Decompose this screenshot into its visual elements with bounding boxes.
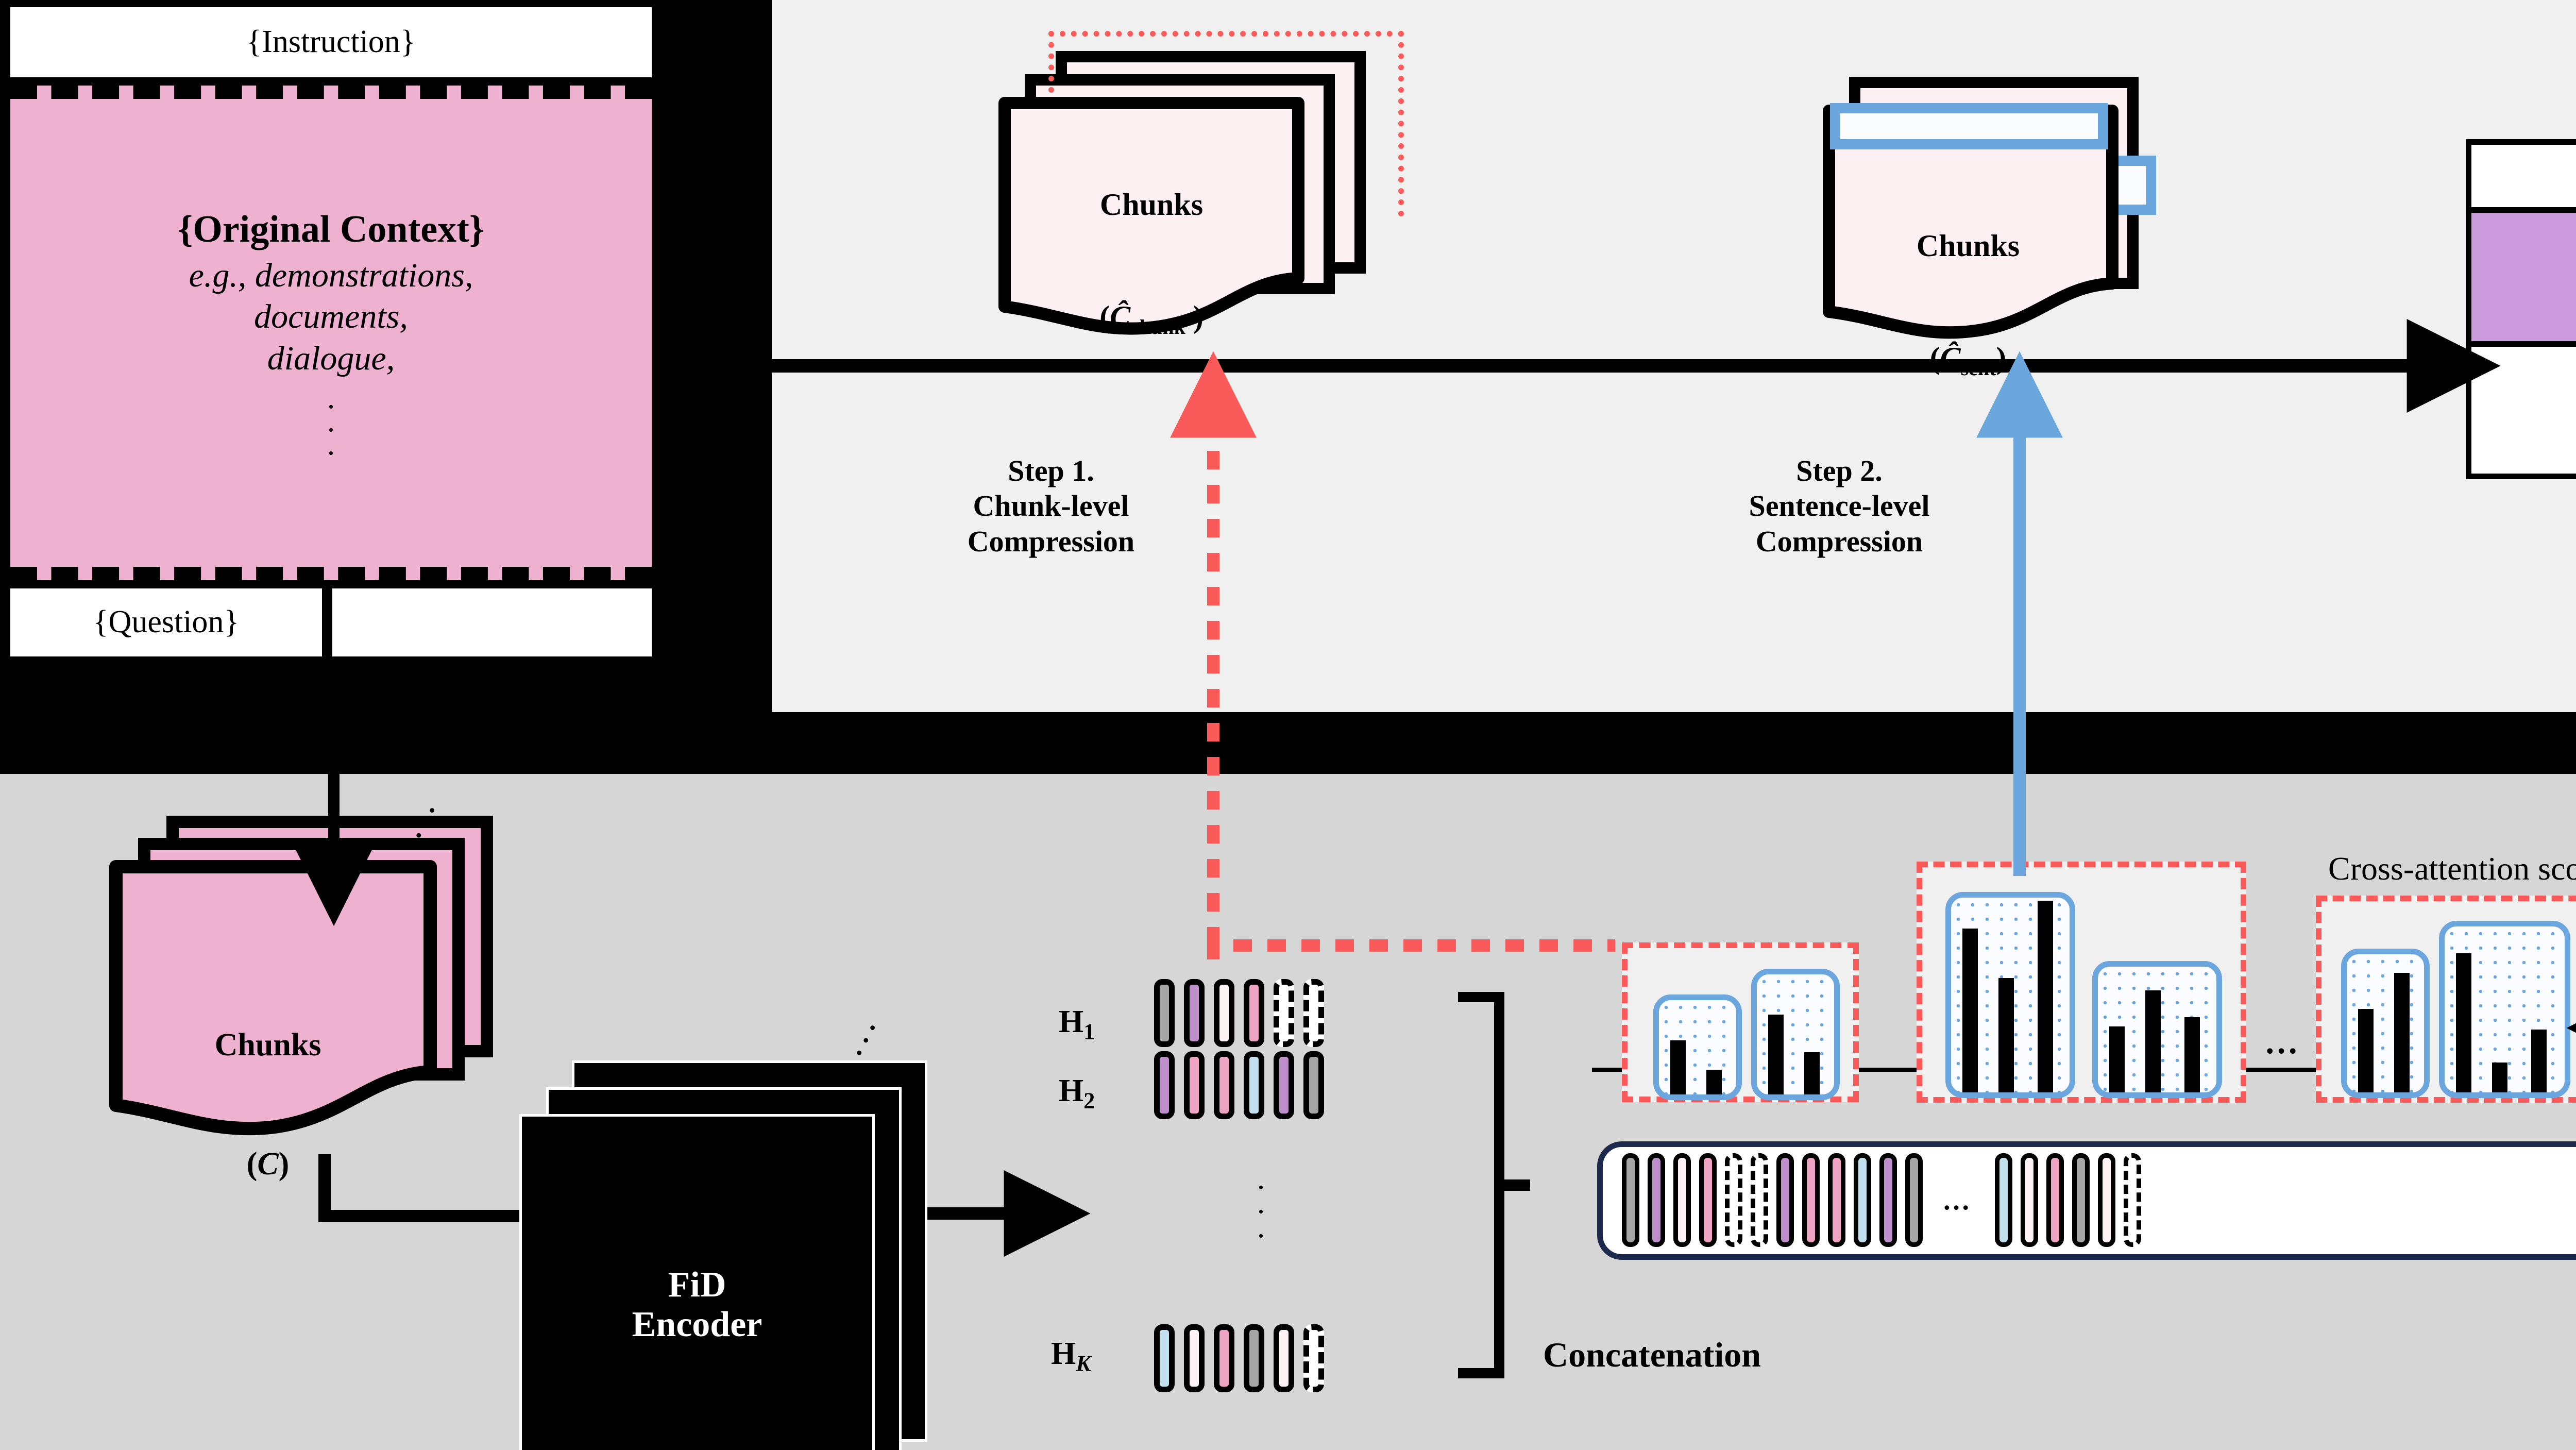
h2-label: H2 (1059, 1073, 1095, 1114)
token-dashed (1303, 979, 1324, 1047)
step-2-title: Sentence-level (1685, 488, 1994, 524)
original-prompt-block: {Instruction} {Original Context} e.g., d… (0, 0, 662, 664)
compressed-prompt-block: {Instruction} {CompressedContext} {Quest… (2466, 139, 2576, 479)
fid-encoder[interactable]: FiD Encoder (519, 1114, 875, 1450)
step-2-subtitle: Compression (1685, 524, 1994, 559)
token-dashed (2124, 1153, 2141, 1247)
original-context-example-line: documents, (189, 296, 473, 338)
step-2-label: Step 2. Sentence-level Compression (1685, 453, 1994, 559)
step-1-title: Chunk-level (907, 488, 1195, 524)
original-question-text: {Question} (93, 605, 239, 639)
token-pink (1244, 979, 1264, 1047)
token-blue (1995, 1153, 2012, 1247)
attention-ellipsis: … (2264, 1023, 2306, 1062)
attention-sentence-k-2[interactable] (2439, 921, 2570, 1098)
chunk-level-symbol: (Ĉchunk ) (994, 299, 1309, 339)
token-gray (1244, 1324, 1264, 1392)
attention-sentence-2-1[interactable] (1945, 892, 2075, 1098)
chunk-level-dashed-left (1048, 31, 1056, 93)
compressed-question-row: {Question} (2471, 347, 2576, 411)
attention-sentence-1-2[interactable] (1751, 969, 1840, 1100)
original-context-examples: e.g., demonstrations,documents,dialogue, (189, 255, 473, 380)
original-question-filler (332, 588, 652, 656)
token-purple (1274, 1051, 1294, 1119)
step-1-subtitle: Compression (907, 524, 1195, 559)
attention-bar (2038, 901, 2053, 1092)
token-white_pink (2098, 1153, 2115, 1247)
chunk-level-dashed-highlight (1048, 31, 1404, 216)
original-context-row: {Original Context} e.g., demonstrations,… (10, 86, 652, 580)
token-white_pink (1214, 979, 1234, 1047)
attention-bar (2145, 990, 2161, 1092)
concatenation-bracket (1453, 992, 1535, 1389)
token-white_pink (1673, 1153, 1691, 1247)
attention-chunk-group-2 (1917, 862, 2246, 1103)
original-instruction-text: {Instruction} (246, 25, 415, 59)
token-pink (2046, 1153, 2064, 1247)
step-1-number: Step 1. (907, 453, 1195, 488)
sentence-level-paper-label: Chunks (Ĉsent) (1819, 155, 2117, 453)
token-pink (1699, 1153, 1717, 1247)
token-gray (2072, 1153, 2090, 1247)
token-purple (1648, 1153, 1665, 1247)
attention-bar (1998, 978, 2014, 1092)
original-instruction-row: {Instruction} (10, 7, 652, 77)
step-2-number: Step 2. (1685, 453, 1994, 488)
sentence-level-symbol: (Ĉsent) (1819, 340, 2117, 380)
hk-token-row (1154, 1324, 1324, 1392)
token-white_pink (1274, 1324, 1294, 1392)
concatenation-token-row: … (1622, 1153, 2141, 1247)
attention-bar (2492, 1063, 2507, 1092)
token-blue (1244, 1051, 1264, 1119)
step-1-label: Step 1. Chunk-level Compression (907, 453, 1195, 559)
attention-sentence-k-1[interactable] (2341, 949, 2430, 1098)
attention-bar (1670, 1040, 1686, 1094)
token-purple (1184, 979, 1205, 1047)
token-purple (1879, 1153, 1897, 1247)
attention-bar (1768, 1015, 1784, 1094)
attention-sentence-2-2[interactable] (2092, 961, 2222, 1098)
token-gray (1154, 979, 1175, 1047)
token-gray (1622, 1153, 1639, 1247)
token-pink (1828, 1153, 1845, 1247)
original-context-example-line: e.g., demonstrations, (189, 255, 473, 297)
h2-token-row (1154, 1051, 1324, 1119)
token-dashed (1751, 1153, 1768, 1247)
attention-bar (2109, 1026, 2125, 1092)
token-dashed (1725, 1153, 1742, 1247)
diagram-canvas: {Instruction} {Original Context} e.g., d… (0, 0, 2576, 1450)
source-chunks-symbol: (C) (103, 1145, 433, 1184)
attention-bar (2358, 1009, 2374, 1092)
original-context-example-line: dialogue, (189, 338, 473, 380)
source-chunks-label: Chunks (C) (103, 948, 433, 1262)
token-dashed (1274, 979, 1294, 1047)
h1-token-row (1154, 979, 1324, 1047)
attention-bar (2394, 973, 2410, 1092)
attention-bar (2456, 953, 2471, 1092)
token-blue (1854, 1153, 1871, 1247)
compressed-instruction-row: {Instruction} (2471, 145, 2576, 213)
original-context-title: {Original Context} (178, 210, 484, 250)
fid-encoder-line1: FiD (668, 1265, 726, 1305)
token-pink (1214, 1051, 1234, 1119)
attention-bar (2531, 1030, 2547, 1092)
h1-label: H1 (1059, 1004, 1095, 1044)
representations-ellipsis: ... (1257, 1167, 1265, 1239)
hk-label: HK (1051, 1336, 1091, 1376)
token-white_pink (2021, 1153, 2038, 1247)
concatenation-ellipsis: … (1931, 1184, 1987, 1216)
token-pink (1802, 1153, 1820, 1247)
fid-encoder-line2: Encoder (632, 1305, 762, 1344)
attention-bar (2184, 1017, 2200, 1092)
token-purple (1776, 1153, 1794, 1247)
attention-bar (1706, 1070, 1722, 1094)
attention-chunk-group-1 (1622, 942, 1859, 1102)
token-purple (1154, 1051, 1175, 1119)
concatenation-label: Concatenation (1543, 1335, 1761, 1375)
attention-chunk-group-k (2316, 896, 2576, 1103)
original-context-ellipsis: ... (327, 386, 335, 456)
attention-bar (1962, 929, 1978, 1092)
token-gray (1303, 1051, 1324, 1119)
token-pink (1214, 1324, 1234, 1392)
token-dashed (1303, 1324, 1324, 1392)
attention-sentence-1-1[interactable] (1653, 994, 1742, 1100)
compressed-context-row: {CompressedContext} (2471, 213, 2576, 347)
token-blue (1154, 1324, 1175, 1392)
token-gray (1905, 1153, 1923, 1247)
attention-bar (1804, 1052, 1820, 1094)
token-white_pink (1184, 1324, 1205, 1392)
original-question-row: {Question} (10, 588, 322, 656)
token-pink (1184, 1051, 1205, 1119)
